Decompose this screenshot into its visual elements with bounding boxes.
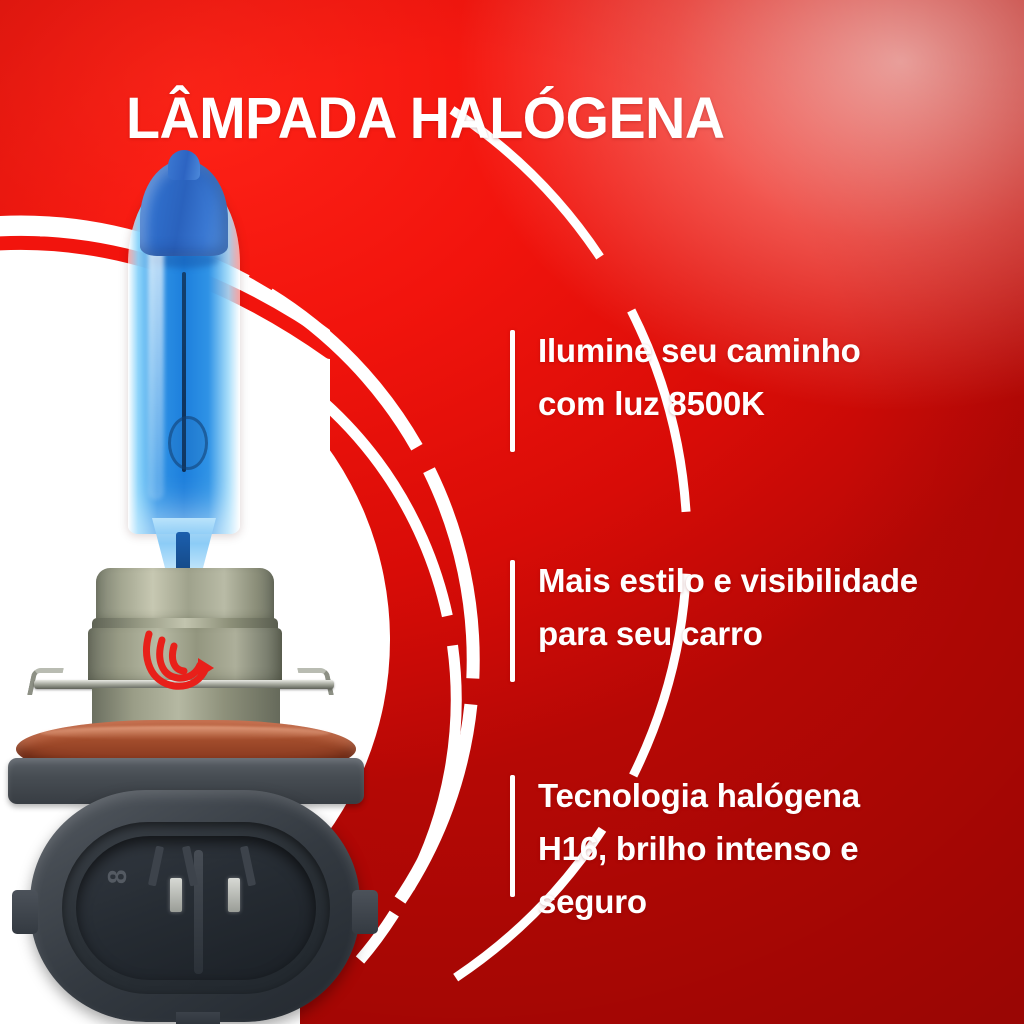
connector-molded-marking: 8 — [100, 850, 134, 884]
feature-text-3: Tecnologia halógena H16, brilho intenso … — [538, 769, 1024, 928]
feature-1-line-2: com luz 8500K — [538, 377, 1024, 430]
accent-bar-2 — [510, 560, 515, 682]
feature-text-1: Ilumine seu caminho com luz 8500K — [538, 324, 1024, 430]
feature-2-line-1: Mais estilo e visibilidade — [538, 554, 1024, 607]
accent-bar-1 — [510, 330, 515, 452]
connector-divider-wall — [194, 850, 203, 974]
feature-3-line-2: H16, brilho intenso e — [538, 822, 1024, 875]
feature-3-line-3: seguro — [538, 875, 1024, 928]
advertisement-banner: LÂMPADA HALÓGENA — [0, 0, 1024, 1024]
connector-terminal-blade-right — [228, 878, 240, 912]
feature-text-2: Mais estilo e visibilidade para seu carr… — [538, 554, 1024, 660]
feature-list: Ilumine seu caminho com luz 8500K Mais e… — [510, 0, 1024, 1024]
brand-swirl-logo — [140, 630, 218, 696]
connector-tab-bottom — [176, 1012, 220, 1024]
bulb-filament-coil — [168, 416, 208, 470]
connector-terminal-blade-left — [170, 878, 182, 912]
accent-bar-3 — [510, 775, 515, 897]
feature-2-line-2: para seu carro — [538, 607, 1024, 660]
product-image-halogen-bulb: 8 — [0, 160, 430, 1024]
bulb-glass-tip — [168, 150, 200, 180]
bulb-o-ring-highlight — [40, 726, 330, 740]
connector-tab-left — [12, 890, 38, 934]
connector-tab-right — [352, 890, 378, 934]
feature-1-line-1: Ilumine seu caminho — [538, 324, 1024, 377]
feature-3-line-1: Tecnologia halógena — [538, 769, 1024, 822]
bulb-glass-highlight — [148, 220, 164, 500]
